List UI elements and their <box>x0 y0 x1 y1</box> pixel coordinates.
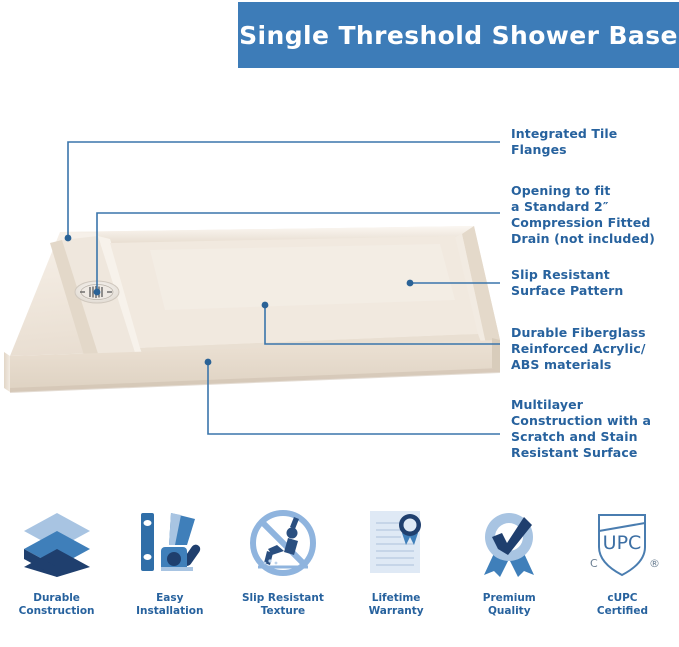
callout-label-multilayer: Multilayer Construction with a Scratch a… <box>511 397 651 461</box>
feature-slip-resistant-texture: Slip Resistant Texture <box>226 505 339 647</box>
feature-label: Slip Resistant Texture <box>242 592 324 618</box>
rosette-check-icon <box>470 505 548 583</box>
feature-label: Lifetime Warranty <box>369 592 424 618</box>
callout-label-fiberglass: Durable Fiberglass Reinforced Acrylic/ A… <box>511 325 646 373</box>
callout-label-slip-surface: Slip Resistant Surface Pattern <box>511 267 623 299</box>
feature-easy-installation: Easy Installation <box>113 505 226 647</box>
upc-shield-text: UPC <box>603 532 642 554</box>
feature-label: Premium Quality <box>483 592 536 618</box>
tools-icon <box>131 505 209 583</box>
callout-label-drain-opening: Opening to fit a Standard 2″ Compression… <box>511 183 655 247</box>
upc-left-mark: C <box>590 557 598 570</box>
feature-label: cUPC Certified <box>597 592 648 618</box>
feature-lifetime-warranty: Lifetime Warranty <box>340 505 453 647</box>
upc-shield-icon: UPC C ® <box>583 505 661 583</box>
callout-label-tile-flanges: Integrated Tile Flanges <box>511 126 617 158</box>
feature-label: Durable Construction <box>19 592 95 618</box>
feature-durable-construction: Durable Construction <box>0 505 113 647</box>
feature-premium-quality: Premium Quality <box>453 505 566 647</box>
feature-cupc-certified: UPC C ® cUPC Certified <box>566 505 679 647</box>
no-slip-icon <box>244 505 322 583</box>
layers-icon <box>18 505 96 583</box>
shower-base-body <box>4 226 500 393</box>
feature-label: Easy Installation <box>136 592 203 618</box>
diagram-page: Single Threshold Shower Base <box>0 0 679 647</box>
leader-tile-flanges <box>68 142 500 238</box>
upc-right-mark: ® <box>649 557 660 570</box>
certificate-icon <box>357 505 435 583</box>
feature-strip: Durable Construction Easy Installation <box>0 505 679 647</box>
